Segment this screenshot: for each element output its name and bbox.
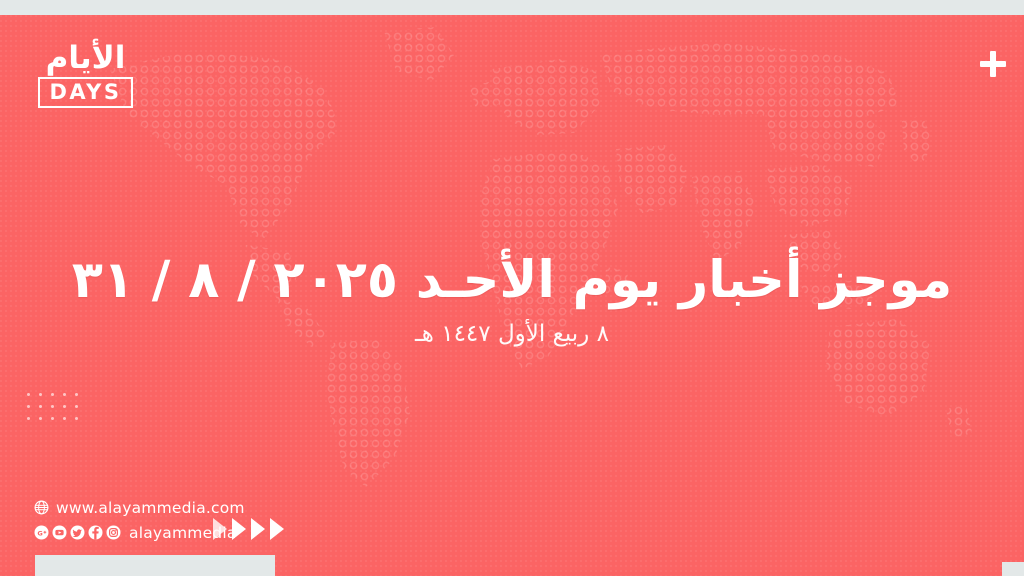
website-row[interactable]: www.alayammedia.com xyxy=(34,497,245,518)
news-card: الأيام DAYS موجز أخبار يوم الأحـد ٢٠٢٥ /… xyxy=(0,15,1024,576)
logo-arabic-wordmark: الأيام xyxy=(38,42,133,75)
page-subtitle: ٨ ربيع الأول ١٤٤٧ هـ xyxy=(0,321,1024,349)
play-triangle-icon xyxy=(232,518,246,540)
googleplus-icon[interactable]: G xyxy=(34,525,49,540)
play-triangle-icon xyxy=(270,518,284,540)
play-triangle-group xyxy=(213,518,284,540)
play-triangle-icon xyxy=(213,518,227,540)
bottom-left-letterbox xyxy=(35,555,275,576)
alayam-logo: الأيام DAYS xyxy=(38,42,133,108)
play-triangle-icon xyxy=(251,518,265,540)
top-letterbox-bar xyxy=(0,0,1024,15)
website-url: www.alayammedia.com xyxy=(56,499,245,517)
globe-icon xyxy=(34,500,49,515)
youtube-icon[interactable] xyxy=(52,525,67,540)
dot-grid-decoration xyxy=(22,388,82,424)
bottom-right-letterbox xyxy=(1002,562,1024,576)
logo-latin-wordmark: DAYS xyxy=(38,77,132,108)
plus-icon xyxy=(980,51,1006,77)
facebook-icon[interactable] xyxy=(88,525,103,540)
twitter-icon[interactable] xyxy=(70,525,85,540)
instagram-icon[interactable] xyxy=(106,525,121,540)
page-title: موجز أخبار يوم الأحـد ٢٠٢٥ / ٨ / ٣١ xyxy=(0,251,1024,311)
headline-block: موجز أخبار يوم الأحـد ٢٠٢٥ / ٨ / ٣١ ٨ رب… xyxy=(0,251,1024,349)
svg-text:G: G xyxy=(37,529,42,537)
news-card-screen: الأيام DAYS موجز أخبار يوم الأحـد ٢٠٢٥ /… xyxy=(0,0,1024,576)
